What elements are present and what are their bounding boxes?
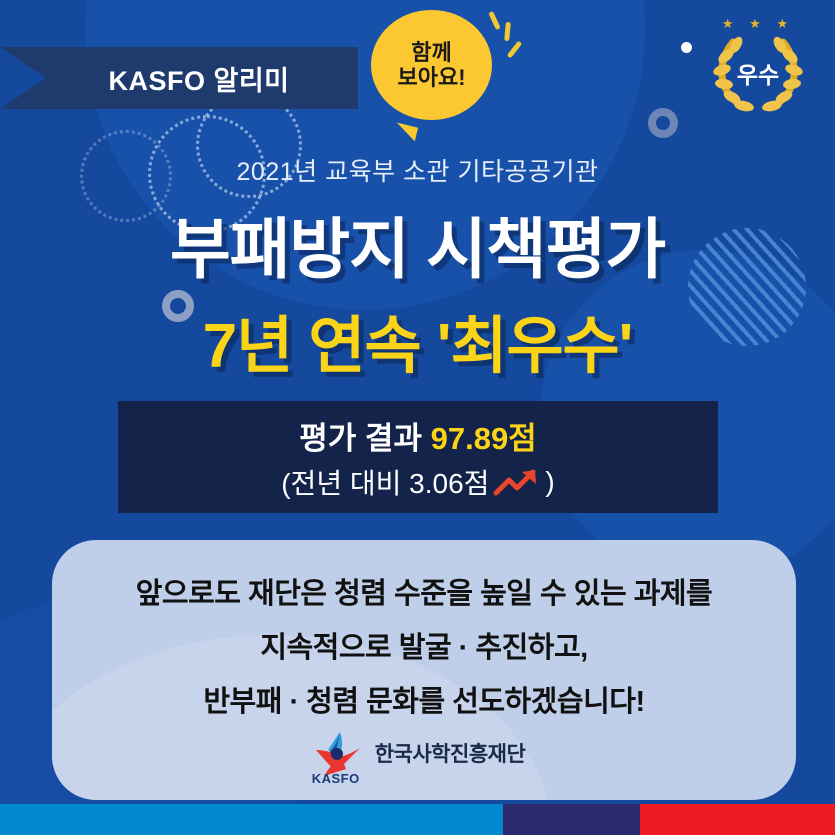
bubble-line-1: 함께 [411, 40, 451, 65]
score-result-line: 평가 결과 97.89점 [299, 413, 536, 458]
bar-segment-navy [503, 804, 640, 835]
badge-stars: ★ ★ ★ [702, 16, 814, 32]
message-line-3: 반부패 · 청렴 문화를 선도하겠습니다! [203, 678, 644, 720]
award-badge: ★ ★ ★ 우수 [702, 12, 814, 124]
score-delta-prefix: (전년 대비 3.06점 [281, 462, 489, 502]
bar-segment-cyan [0, 804, 503, 835]
score-result-label: 평가 결과 [299, 421, 422, 456]
headline-highlight: 7년 연속 '최우수' [0, 295, 835, 385]
score-delta-suffix: ) [545, 466, 554, 498]
logo-organization-name: 한국사학진흥재단 [375, 738, 526, 774]
kasfo-star-mark-icon: KASFO [310, 728, 366, 784]
bar-segment-red [640, 804, 835, 835]
message-line-2: 지속적으로 발굴 · 추진하고, [260, 624, 587, 666]
score-box: 평가 결과 97.89점 (전년 대비 3.06점 ) [118, 401, 718, 513]
subtitle: 2021년 교육부 소관 기타공공기관 [0, 152, 835, 188]
organization-logo: KASFO 한국사학진흥재단 [0, 728, 835, 784]
ring-decoration [648, 108, 678, 138]
ribbon-label: KASFO 알리미 [68, 59, 289, 98]
dot-decoration [681, 42, 692, 53]
promo-card: KASFO 알리미 함께 보아요! [0, 0, 835, 835]
bottom-color-bar [0, 804, 835, 835]
page-title: 부패방지 시책평가 [0, 196, 835, 292]
bubble-line-2: 보아요! [397, 65, 465, 90]
score-value: 97.89점 [431, 421, 537, 456]
score-delta-line: (전년 대비 3.06점 ) [281, 462, 555, 502]
ribbon-banner: KASFO 알리미 [0, 47, 358, 109]
badge-label: 우수 [702, 56, 814, 90]
trend-up-arrow-icon [493, 467, 541, 497]
message-line-1: 앞으로도 재단은 청렴 수준을 높일 수 있는 과제를 [136, 570, 713, 612]
logo-abbreviation: KASFO [312, 771, 360, 786]
speech-bubble: 함께 보아요! [371, 10, 492, 120]
